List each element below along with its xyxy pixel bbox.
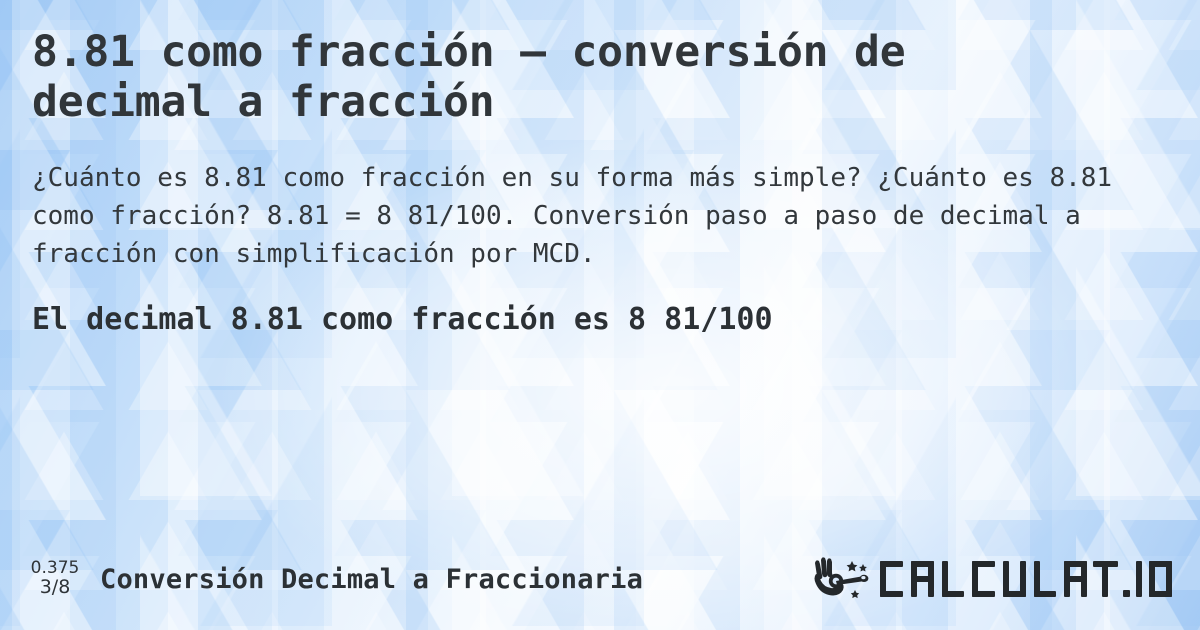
page-description: ¿Cuánto es 8.81 como fracción en su form… bbox=[32, 160, 1144, 274]
decimal-to-fraction-icon: 0.375 3/8 bbox=[24, 555, 86, 603]
footer-left-group: 0.375 3/8 Conversión Decimal a Fracciona… bbox=[24, 555, 643, 603]
icon-fraction-value: 3/8 bbox=[40, 578, 71, 598]
footer-tagline: Conversión Decimal a Fraccionaria bbox=[100, 564, 643, 595]
result-statement: El decimal 8.81 como fracción es 8 81/10… bbox=[32, 300, 1168, 339]
calculatio-logo[interactable] bbox=[812, 554, 1178, 604]
og-card: 8.81 como fracción – conversión de decim… bbox=[0, 0, 1200, 630]
page-title: 8.81 como fracción – conversión de decim… bbox=[32, 28, 1092, 128]
magic-wand-hand-icon bbox=[812, 554, 874, 604]
calculatio-logo-text bbox=[878, 557, 1174, 601]
footer: 0.375 3/8 Conversión Decimal a Fracciona… bbox=[0, 534, 1200, 630]
